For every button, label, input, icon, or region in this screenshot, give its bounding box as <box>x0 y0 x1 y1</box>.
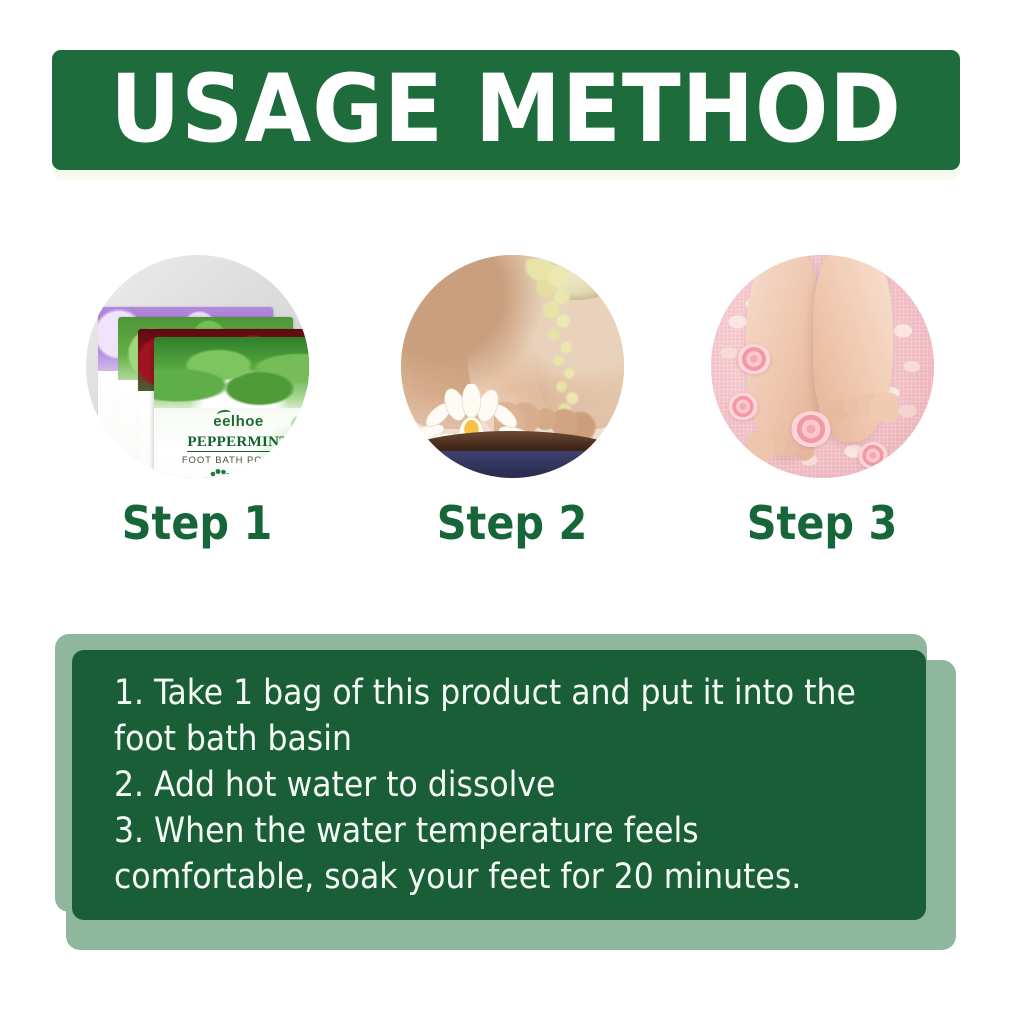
page-title: USAGE METHOD <box>110 63 902 157</box>
step-3-label: Step 3 <box>747 500 898 546</box>
step-2-label: Step 2 <box>437 500 588 546</box>
sachet-peppermint-band <box>154 337 309 415</box>
green-footprints-icon <box>207 463 271 478</box>
brand-logo: eelhoe <box>213 414 264 429</box>
brand-swoosh-icon <box>217 409 232 419</box>
steps-row: eelhoe PEPPERMINT FOOT BATH POWDER <box>0 255 1024 595</box>
instruction-item: 3. When the water temperature feels comf… <box>114 808 892 900</box>
product-label: eelhoe PEPPERMINT FOOT BATH POWDER <box>154 414 309 466</box>
instructions-list: 1. Take 1 bag of this product and put it… <box>72 670 926 901</box>
step-1: eelhoe PEPPERMINT FOOT BATH POWDER <box>47 255 347 595</box>
step-2: Step 2 <box>362 255 662 595</box>
step-1-label: Step 1 <box>122 500 273 546</box>
step-2-image <box>401 255 624 478</box>
step-1-image: eelhoe PEPPERMINT FOOT BATH POWDER <box>86 255 309 478</box>
instruction-item: 1. Take 1 bag of this product and put it… <box>114 670 892 762</box>
product-name: PEPPERMINT <box>187 435 289 452</box>
pink-rose <box>791 411 831 447</box>
instructions-box: 1. Take 1 bag of this product and put it… <box>72 650 926 920</box>
pink-rose <box>858 442 888 469</box>
instruction-item: 2. Add hot water to dissolve <box>114 762 892 808</box>
step-3: Step 3 <box>672 255 972 595</box>
toes-right <box>822 393 898 429</box>
step-3-image <box>711 255 934 478</box>
infographic-page: USAGE METHOD <box>0 0 1024 1024</box>
sachet-peppermint-front: eelhoe PEPPERMINT FOOT BATH POWDER <box>154 337 309 478</box>
navy-basin <box>401 451 624 478</box>
header-banner: USAGE METHOD <box>52 50 960 170</box>
